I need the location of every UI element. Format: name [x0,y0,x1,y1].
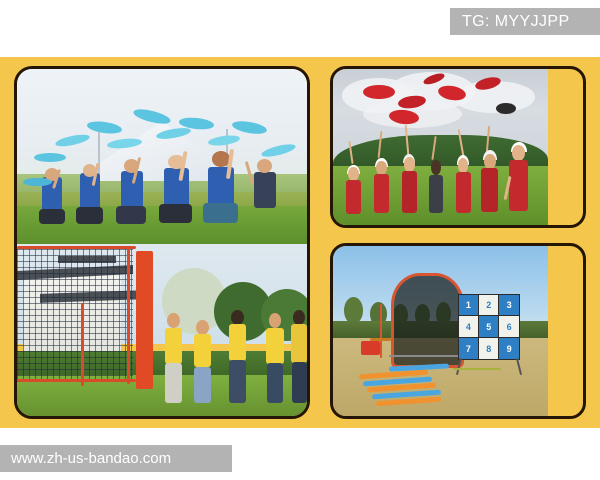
flying-disc [34,153,66,162]
tg-badge-label: TG: MYYJJPP [462,13,570,31]
participant [342,156,366,225]
photo-yellow-vest-net[interactable] [17,244,307,417]
marker-pole [380,304,382,358]
tg-badge: TG: MYYJJPP [450,8,600,35]
bottom-right-panel[interactable]: 1 2 3 4 5 6 7 8 9 [330,243,586,419]
target-cell[interactable]: 2 [479,295,498,316]
flying-disc [363,85,395,99]
watermark: www.zh-us-bandao.com [0,445,232,472]
numbered-target-board[interactable]: 1 2 3 4 5 6 7 8 9 [458,294,520,361]
net-post [81,303,84,386]
flying-disc [496,103,515,114]
participant [477,144,503,225]
net-banner [136,251,153,389]
participant [200,148,244,227]
participant [425,153,447,225]
marker-block [361,341,380,355]
participant [34,167,69,227]
net-frame [17,246,136,249]
collage-frame: 1 2 3 4 5 6 7 8 9 [0,57,600,428]
participant [113,157,151,227]
top-right-panel[interactable] [330,66,586,228]
target-cell[interactable]: 1 [459,295,478,316]
target-cell[interactable]: 9 [499,338,518,359]
catch-net [391,273,464,367]
participant [261,313,290,403]
participant [159,313,188,403]
participant [223,310,252,403]
target-cell[interactable]: 3 [499,295,518,316]
watermark-label: www.zh-us-bandao.com [11,450,171,467]
net-mesh [17,247,133,382]
flying-disc [23,178,52,187]
photo-target-board-field[interactable]: 1 2 3 4 5 6 7 8 9 [333,246,548,416]
participant [370,150,394,225]
net-base [389,355,462,357]
target-cell[interactable]: 7 [459,338,478,359]
target-cell[interactable]: 6 [499,316,518,337]
target-cell[interactable]: 8 [479,338,498,359]
participant [156,151,197,226]
photo-red-frisbee-kids[interactable] [333,69,548,225]
target-cell[interactable]: 5 [479,316,498,337]
participant [246,157,284,227]
net-frame [17,379,136,382]
participant [451,149,475,225]
participant [188,320,217,403]
participant [72,162,107,227]
participant [505,138,533,225]
photo-blue-frisbee-team[interactable] [17,69,307,244]
target-cell[interactable]: 4 [459,316,478,337]
net-frame [127,246,130,384]
left-panel[interactable] [14,66,310,419]
participant [398,147,422,225]
participant [287,310,307,403]
